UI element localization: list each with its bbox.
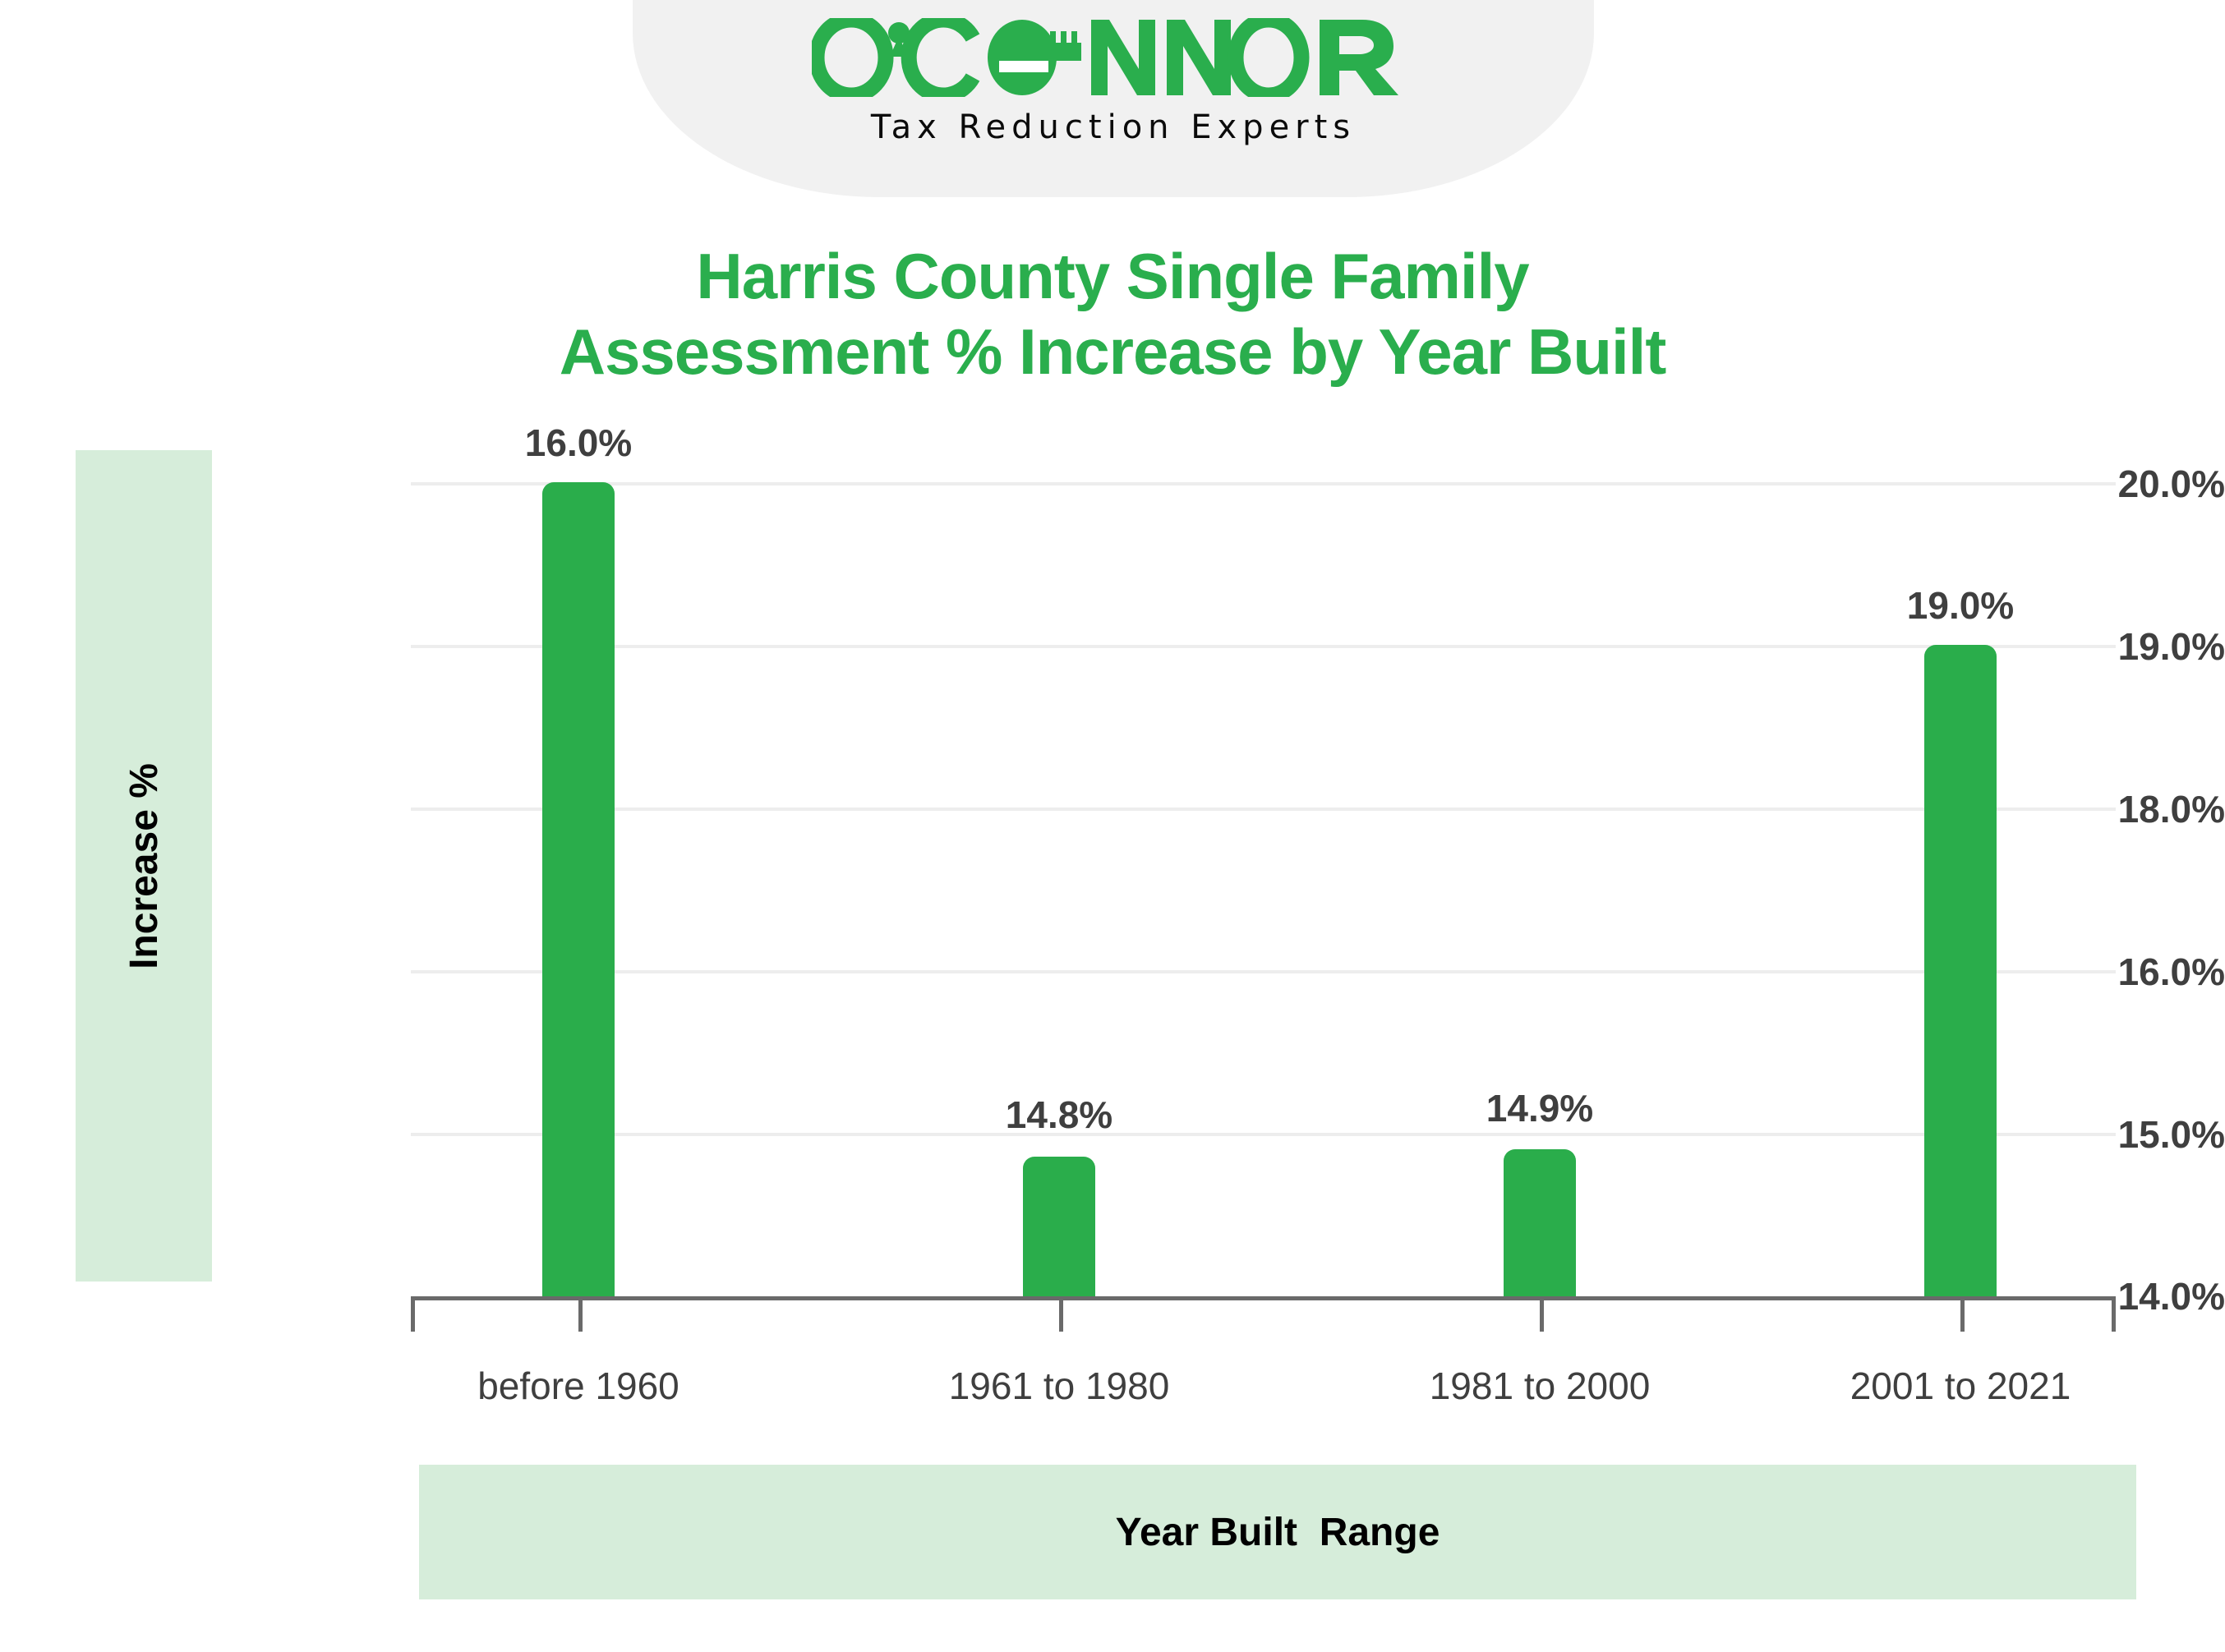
x-axis-tick — [1540, 1300, 1544, 1332]
bar-value-label: 16.0% — [525, 421, 632, 465]
bar-1981-to-2000[interactable] — [1504, 1149, 1576, 1296]
x-axis-tick — [411, 1300, 415, 1332]
bar-value-label: 14.8% — [1006, 1093, 1112, 1137]
bar-1961-to-1980[interactable] — [1023, 1157, 1095, 1296]
gridline — [411, 482, 2116, 485]
bar-value-label: 14.9% — [1486, 1086, 1593, 1130]
gridline — [411, 1133, 2116, 1136]
bar-before-1960[interactable] — [542, 482, 615, 1296]
x-axis-tick — [1960, 1300, 1965, 1332]
x-axis-tick — [1059, 1300, 1063, 1332]
bar-2001-to-2021[interactable] — [1924, 645, 1997, 1296]
x-category-label-2001-to-2021: 2001 to 2021 — [1850, 1364, 2071, 1408]
bar-value-label: 19.0% — [1907, 583, 2014, 628]
x-axis-tick — [578, 1300, 583, 1332]
chart-title: Harris County Single Family Assessment %… — [0, 238, 2225, 389]
gridline — [411, 970, 2116, 973]
x-axis-line — [411, 1296, 2116, 1300]
x-axis-tick — [2112, 1300, 2116, 1332]
gridline — [411, 808, 2116, 811]
x-category-label-1981-to-2000: 1981 to 2000 — [1430, 1364, 1651, 1408]
x-category-label-1961-to-1980: 1961 to 1980 — [949, 1364, 1170, 1408]
x-category-label-before-1960: before 1960 — [477, 1364, 679, 1408]
chart-title-line-2: Assessment % Increase by Year Built — [0, 314, 2225, 389]
chart-title-line-1: Harris County Single Family — [0, 238, 2225, 314]
gridline — [411, 645, 2116, 648]
